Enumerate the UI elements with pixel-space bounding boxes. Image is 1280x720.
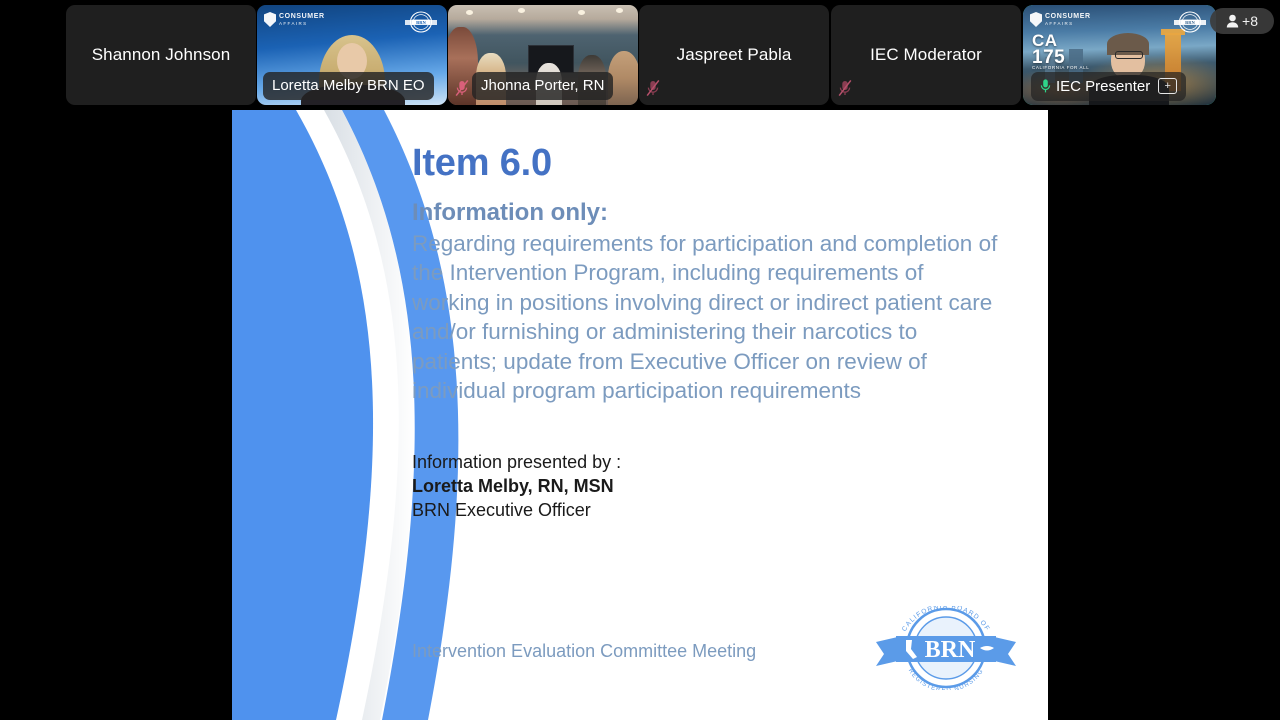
logo-brn-text: BRN — [925, 637, 976, 663]
participant-name-loretta-melby: Loretta Melby BRN EO — [263, 72, 434, 100]
participant-name-jhonna-porter: Jhonna Porter, RN — [472, 72, 613, 100]
person-icon — [1226, 14, 1239, 28]
participant-name-label: Jhonna Porter, RN — [481, 78, 604, 93]
more-participants-label: +8 — [1242, 13, 1258, 29]
brn-seal-icon: BRN — [403, 11, 439, 33]
participant-tile-jaspreet-pabla[interactable]: Jaspreet Pabla — [639, 5, 829, 105]
microphone-muted-icon — [455, 79, 469, 97]
participant-name-iec-presenter: IEC Presenter + — [1031, 72, 1186, 101]
microphone-active-icon — [1040, 78, 1051, 94]
ca-175-overlay: CA 175 CALIFORNIA FOR ALL — [1032, 33, 1089, 70]
shield-icon — [1030, 12, 1042, 27]
svg-text:BRN: BRN — [1185, 20, 1195, 25]
ceiling-light — [518, 8, 525, 13]
ceiling-light — [616, 8, 623, 13]
participant-name-label: Loretta Melby BRN EO — [272, 78, 425, 93]
ca-175-line2: 175 — [1032, 49, 1089, 66]
participant-tile-shannon-johnson[interactable]: Shannon Johnson — [66, 5, 256, 105]
presenter-name: Loretta Melby, RN, MSN — [412, 474, 1028, 498]
slide-subtitle: Information only: — [412, 198, 1028, 228]
share-screen-badge-icon[interactable]: + — [1158, 78, 1177, 94]
brn-seal-icon: BRN — [1172, 11, 1208, 33]
presented-by-block: Information presented by : Loretta Melby… — [412, 450, 1028, 522]
presented-by-label: Information presented by : — [412, 450, 1028, 474]
consumer-affairs-logo-text: CONSUMERAFFAIRS — [279, 13, 325, 26]
brn-logo: CALIFORNIA BOARD OF REGISTERED NURSING B… — [872, 606, 1020, 690]
svg-text:BRN: BRN — [416, 20, 426, 25]
more-participants-badge[interactable]: +8 — [1210, 8, 1274, 34]
participant-tile-iec-moderator[interactable]: IEC Moderator — [831, 5, 1021, 105]
participant-tile-iec-presenter[interactable]: CONSUMERAFFAIRS BRN CA 175 CALIFORNIA FO… — [1023, 5, 1216, 105]
participant-tile-loretta-melby[interactable]: CONSUMERAFFAIRS BRN Loretta Melby BRN EO — [257, 5, 447, 105]
consumer-affairs-logo-subtext: AFFAIRS — [279, 21, 325, 26]
participant-tile-jhonna-porter[interactable]: Jhonna Porter, RN — [448, 5, 638, 105]
presenter-glasses — [1115, 51, 1143, 59]
ceiling-light — [466, 10, 473, 15]
participant-filmstrip: Shannon Johnson CONSUMERAFFAIRS BRN Lore… — [0, 0, 1280, 110]
slide-text-block: Item 6.0 Information only: Regarding req… — [412, 144, 1028, 522]
slide-body-text: Regarding requirements for participation… — [412, 229, 1002, 406]
participant-name-iec-moderator: IEC Moderator — [831, 5, 1021, 105]
participant-name-shannon-johnson: Shannon Johnson — [66, 5, 256, 105]
participant-name-label: IEC Presenter — [1056, 79, 1150, 94]
slide-footer: Intervention Evaluation Committee Meetin… — [412, 641, 756, 662]
consumer-affairs-logo-text: CONSUMERAFFAIRS — [1045, 13, 1091, 26]
microphone-muted-icon — [838, 79, 852, 97]
consumer-affairs-logo: CONSUMERAFFAIRS — [264, 12, 325, 27]
slide-title: Item 6.0 — [412, 144, 1028, 184]
participant-name-jaspreet-pabla: Jaspreet Pabla — [639, 5, 829, 105]
ceiling-light — [578, 10, 585, 15]
shared-slide[interactable]: Item 6.0 Information only: Regarding req… — [232, 110, 1048, 720]
consumer-affairs-logo: CONSUMERAFFAIRS — [1030, 12, 1091, 27]
consumer-affairs-logo-subtext: AFFAIRS — [1045, 21, 1091, 26]
presenter-title: BRN Executive Officer — [412, 498, 1028, 522]
ca-175-line3: CALIFORNIA FOR ALL — [1032, 66, 1089, 70]
shield-icon — [264, 12, 276, 27]
microphone-muted-icon — [646, 79, 660, 97]
